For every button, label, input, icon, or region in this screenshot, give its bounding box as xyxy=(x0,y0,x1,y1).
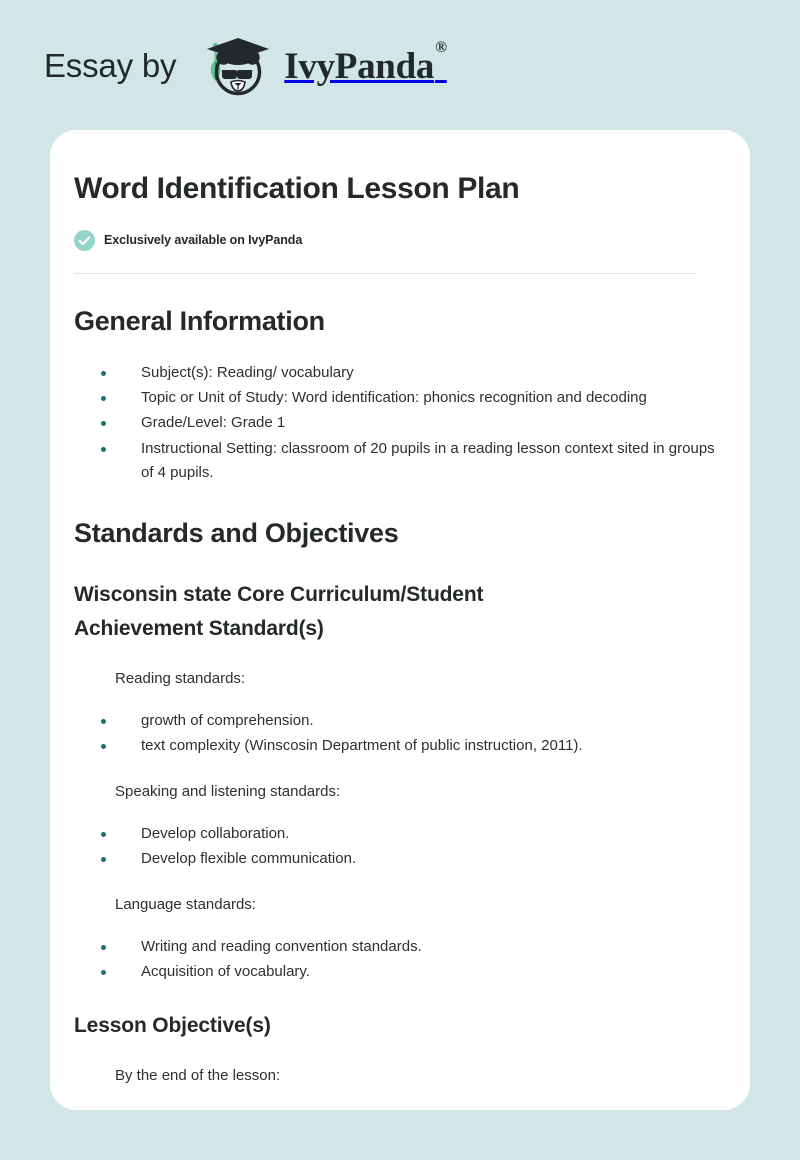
list-item: Develop collaboration. xyxy=(74,822,723,846)
ivypanda-logo-link[interactable]: IvyPanda® xyxy=(198,32,445,98)
list-item: Subject(s): Reading/ vocabulary xyxy=(74,361,723,385)
language-standards-list: Writing and reading convention standards… xyxy=(74,935,723,985)
header-divider xyxy=(74,273,696,274)
document-card: Word Identification Lesson Plan Exclusiv… xyxy=(50,130,750,1110)
wordmark-text: IvyPanda xyxy=(284,46,434,87)
section-heading-general-information: General Information xyxy=(74,304,723,339)
group-lead-speaking-listening-standards: Speaking and listening standards: xyxy=(74,780,723,804)
group-lead-by-end-of-lesson: By the end of the lesson: xyxy=(74,1064,723,1088)
list-item: Writing and reading convention standards… xyxy=(74,935,723,959)
ivypanda-wordmark: IvyPanda® xyxy=(284,48,445,85)
list-item: Acquisition of vocabulary. xyxy=(74,960,723,984)
list-item: Develop flexible communication. xyxy=(74,847,723,871)
panda-graduate-logo-icon xyxy=(198,32,276,98)
subsection-heading-wisconsin-standards: Wisconsin state Core Curriculum/Student … xyxy=(74,578,594,646)
list-item: Grade/Level: Grade 1 xyxy=(74,411,723,435)
reading-standards-list: growth of comprehension. text complexity… xyxy=(74,709,723,759)
subsection-heading-lesson-objectives: Lesson Objective(s) xyxy=(74,1009,594,1043)
list-item: growth of comprehension. xyxy=(74,709,723,733)
list-item: Topic or Unit of Study: Word identificat… xyxy=(74,386,723,410)
lesson-objectives-list: The pupils should be able correctly spel… xyxy=(74,1106,723,1110)
section-heading-standards-and-objectives: Standards and Objectives xyxy=(74,516,723,551)
general-information-list: Subject(s): Reading/ vocabulary Topic or… xyxy=(74,361,723,486)
trademark-symbol: ® xyxy=(435,39,447,56)
group-lead-language-standards: Language standards: xyxy=(74,893,723,917)
status-badge: Exclusively available on IvyPanda xyxy=(74,230,723,251)
speaking-listening-standards-list: Develop collaboration. Develop flexible … xyxy=(74,822,723,872)
list-item: Instructional Setting: classroom of 20 p… xyxy=(74,437,723,486)
exclusive-label: Exclusively available on IvyPanda xyxy=(104,233,302,247)
check-circle-icon xyxy=(74,230,95,251)
list-item: text complexity (Winscosin Department of… xyxy=(74,734,723,758)
page-title: Word Identification Lesson Plan xyxy=(74,170,723,208)
essay-by-label: Essay by xyxy=(44,49,176,82)
group-lead-reading-standards: Reading standards: xyxy=(74,667,723,691)
list-item: The pupils should be able correctly spel… xyxy=(74,1106,723,1110)
page-header: Essay by xyxy=(0,0,800,130)
